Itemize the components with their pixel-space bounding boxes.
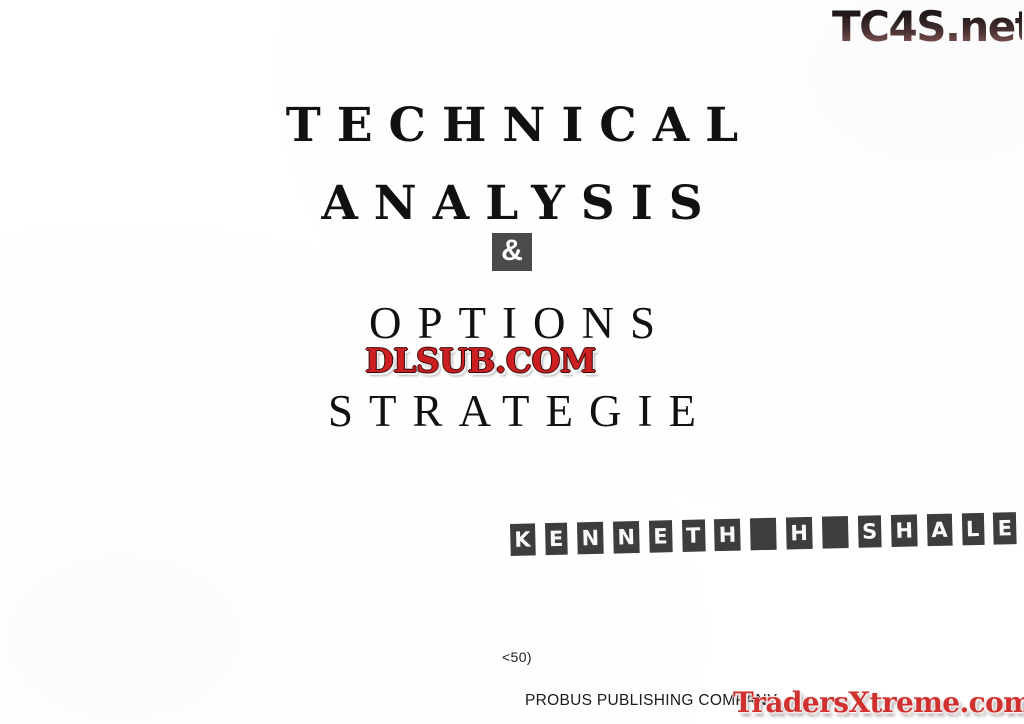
page-mark-text: <50) xyxy=(502,649,532,665)
cover-title-line-analysis: ANALYSIS xyxy=(0,176,1024,232)
author-tile: N xyxy=(613,521,640,554)
cover-title-line-strategie: STRATEGIE xyxy=(0,384,1024,438)
author-tile: A xyxy=(927,514,953,547)
ampersand-plate-wrapper: & xyxy=(0,233,1024,271)
cover-title-line-technical: TECHNICAL xyxy=(0,98,1024,154)
author-tile: E xyxy=(545,523,569,556)
author-tile-space xyxy=(750,518,777,551)
author-tile: K xyxy=(510,523,536,556)
page-mark: <50) xyxy=(0,649,1024,665)
tradersxtreme-com-watermark: TradersXtreme.com xyxy=(733,687,1024,719)
author-tile: N xyxy=(577,522,604,555)
ampersand-plate: & xyxy=(492,233,532,271)
author-tile: H xyxy=(714,519,741,552)
author-tile: S xyxy=(858,515,882,548)
author-name-band: K E N N E T H H S H A L E E N xyxy=(510,509,1024,556)
book-cover-page: TC4S.net TECHNICAL ANALYSIS & OPTIONS DL… xyxy=(0,0,1024,724)
author-tile: T xyxy=(682,519,706,552)
author-tile: E xyxy=(993,512,1017,545)
author-tile: H xyxy=(786,517,813,550)
dlsub-com-watermark: DLSUB.COM xyxy=(365,343,596,378)
author-tile: H xyxy=(891,514,918,547)
author-tile-space xyxy=(822,516,849,549)
tc4s-net-watermark: TC4S.net xyxy=(832,2,1022,54)
author-tile: E xyxy=(649,520,673,553)
author-tile: L xyxy=(962,513,985,546)
